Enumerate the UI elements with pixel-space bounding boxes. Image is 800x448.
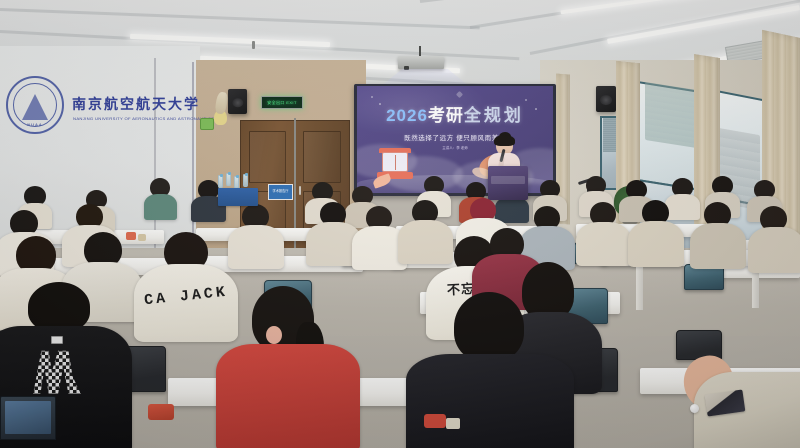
head	[28, 282, 90, 332]
registration-box[interactable]	[218, 188, 258, 206]
torso	[495, 197, 529, 223]
torso	[576, 222, 631, 266]
desk-item[interactable]	[446, 418, 460, 429]
desk-item[interactable]	[148, 404, 174, 420]
university-logo: NUAA 南京航空航天大学 NANJING UNIVERSITY OF AERO…	[4, 72, 154, 162]
ny-logo-graphic	[31, 348, 83, 394]
door-sign: 学术报告厅	[268, 184, 293, 200]
desk-trinket[interactable]	[690, 404, 699, 413]
hand	[266, 326, 282, 344]
university-name-en: NANJING UNIVERSITY OF AERONAUTICS AND AS…	[73, 116, 214, 121]
water-bottle[interactable]	[226, 173, 231, 186]
sprinkler-head	[252, 41, 255, 49]
mlb-badge-icon	[51, 336, 63, 344]
door-handle[interactable]	[299, 186, 301, 195]
seal-label: NUAA	[8, 122, 62, 127]
slide-sparkle	[456, 91, 463, 98]
presenter-hair	[494, 135, 515, 146]
slide-title-rest: 全规划	[464, 106, 524, 125]
chair-back	[0, 396, 56, 440]
torso	[690, 223, 746, 269]
slide-dot	[525, 99, 527, 101]
torso	[406, 354, 574, 448]
torso	[748, 227, 800, 273]
window-view-foliage	[645, 82, 697, 148]
foreground-person	[228, 286, 348, 448]
water-bottle[interactable]	[243, 174, 248, 187]
projector-lens	[404, 66, 409, 70]
slide-title-year: 2026	[386, 106, 428, 125]
water-bottle[interactable]	[218, 175, 223, 188]
desk-item[interactable]	[126, 232, 136, 240]
wall-decor-green	[200, 118, 214, 130]
seal-tower-icon	[22, 94, 48, 120]
torso	[628, 221, 684, 267]
slide-subtitle: 既然选择了远方 便只顾风雨兼程	[357, 132, 553, 142]
wall-speaker-left	[228, 89, 247, 114]
door-panel	[249, 131, 286, 183]
slide-title-line: 2026考研全规划	[357, 106, 553, 126]
torso	[134, 264, 238, 342]
emergency-exit-sign: 安全出口 EXIT	[261, 96, 303, 109]
podium	[488, 166, 528, 200]
door-panel	[303, 131, 341, 183]
projector-mount	[419, 46, 421, 56]
podium-nameplate	[491, 176, 525, 184]
exit-sign-label: 安全出口 EXIT	[267, 100, 297, 106]
slide-dot	[379, 103, 381, 105]
chair-back-panel	[5, 401, 50, 434]
nuaa-seal-icon: NUAA	[6, 76, 64, 134]
desk-item[interactable]	[424, 414, 446, 428]
university-name-cn: 南京航空航天大学	[72, 94, 200, 114]
torso	[144, 194, 177, 220]
desk-leg	[636, 262, 643, 310]
slide-title-highlight: 考研	[428, 106, 464, 125]
slide-dot	[371, 96, 373, 98]
slide-book-icon	[382, 152, 408, 172]
classroom-photo: NUAA 南京航空航天大学 NANJING UNIVERSITY OF AERO…	[0, 0, 800, 448]
torso	[665, 194, 700, 220]
torso	[216, 344, 360, 448]
head-long-hair	[454, 292, 524, 362]
wall-speaker-right	[596, 86, 616, 112]
